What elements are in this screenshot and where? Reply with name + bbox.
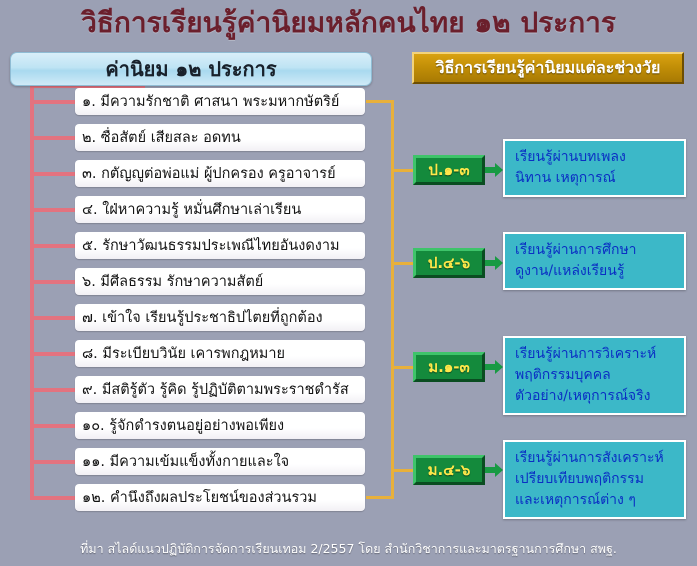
- methods-panel-header: วิธีการเรียนรู้ค่านิยมแต่ละช่วงวัย: [412, 52, 684, 84]
- source-footer: ที่มา สไลด์แนวปฏิบัติการจัดการเรียนเทอม …: [0, 539, 697, 559]
- red-connector-trunk: [30, 84, 34, 498]
- value-item-2: ๒. ซื่อสัตย์ เสียสละ อดทน: [75, 124, 365, 151]
- method-line: เรียนรู้ผ่านบทเพลง: [515, 147, 676, 168]
- red-branch-7: [30, 316, 76, 320]
- value-item-7: ๗. เข้าใจ เรียนรู้ประชาธิปไตยที่ถูกต้อง: [75, 304, 365, 331]
- arrow-right-icon-3: [485, 360, 503, 374]
- gold-branch-3: [391, 366, 413, 369]
- value-item-3: ๓. กตัญญูต่อพ่อแม่ ผู้ปกครอง ครูอาจารย์: [75, 160, 365, 187]
- method-box-1: เรียนรู้ผ่านบทเพลงนิทาน เหตุการณ์: [503, 139, 686, 197]
- grade-box-2[interactable]: ป.๔-๖: [413, 248, 485, 278]
- value-item-9: ๙. มีสติรู้ตัว รู้คิด รู้ปฏิบัติตามพระรา…: [75, 376, 365, 403]
- method-line: เรียนรู้ผ่านการศึกษา: [515, 240, 676, 261]
- red-branch-11: [30, 460, 76, 464]
- value-item-1: ๑. มีความรักชาติ ศาสนา พระมหากษัตริย์: [75, 88, 365, 115]
- red-branch-10: [30, 424, 76, 428]
- page-title: วิธีการเรียนรู้ค่านิยมหลักคนไทย ๑๒ ประกา…: [0, 6, 697, 40]
- arrow-right-icon-4: [485, 463, 503, 477]
- method-box-4: เรียนรู้ผ่านการสังเคราะห์เปรียบเทียบพฤติ…: [503, 440, 686, 519]
- value-item-11: ๑๑. มีความเข้มแข็งทั้งกายและใจ: [75, 448, 365, 475]
- red-branch-4: [30, 208, 76, 212]
- value-item-5: ๕. รักษาวัฒนธรรมประเพณีไทยอันงดงาม: [75, 232, 365, 259]
- method-line: เรียนรู้ผ่านการวิเคราะห์: [515, 344, 676, 365]
- diagram-canvas: วิธีการเรียนรู้ค่านิยมหลักคนไทย ๑๒ ประกา…: [0, 0, 697, 566]
- method-line: นิทาน เหตุการณ์: [515, 168, 676, 189]
- gold-stub-item-12: [366, 496, 394, 499]
- red-branch-3: [30, 172, 76, 176]
- value-item-4: ๔. ใฝ่หาความรู้ หมั่นศึกษาเล่าเรียน: [75, 196, 365, 223]
- red-branch-6: [30, 280, 76, 284]
- method-line: เรียนรู้ผ่านการสังเคราะห์: [515, 448, 676, 469]
- red-branch-1: [30, 100, 76, 104]
- method-line: ดูงาน/แหล่งเรียนรู้: [515, 261, 676, 282]
- value-item-10: ๑๐. รู้จักดำรงตนอยู่อย่างพอเพียง: [75, 412, 365, 439]
- red-branch-5: [30, 244, 76, 248]
- method-line: และเหตุการณ์ต่าง ๆ: [515, 490, 676, 511]
- method-line: พฤติกรรมบุคคล: [515, 365, 676, 386]
- method-line: ตัวอย่าง/เหตุการณ์จริง: [515, 386, 676, 407]
- arrow-right-icon-1: [485, 163, 503, 177]
- values-panel-header: ค่านิยม ๑๒ ประการ: [10, 52, 372, 86]
- value-item-6: ๖. มีศีลธรรม รักษาความสัตย์: [75, 268, 365, 295]
- gold-branch-4: [391, 469, 413, 472]
- gold-branch-1: [391, 169, 413, 172]
- grade-box-4[interactable]: ม.๔-๖: [413, 455, 485, 485]
- method-box-2: เรียนรู้ผ่านการศึกษาดูงาน/แหล่งเรียนรู้: [503, 232, 686, 290]
- gold-stub-item-1: [366, 100, 394, 103]
- red-branch-12: [30, 496, 76, 500]
- value-item-12: ๑๒. คำนึงถึงผลประโยชน์ของส่วนรวม: [75, 484, 365, 511]
- red-branch-2: [30, 136, 76, 140]
- grade-box-1[interactable]: ป.๑-๓: [413, 155, 485, 185]
- value-item-8: ๘. มีระเบียบวินัย เคารพกฎหมาย: [75, 340, 365, 367]
- gold-connector-trunk: [391, 100, 394, 498]
- red-branch-9: [30, 388, 76, 392]
- method-line: เปรียบเทียบพฤติกรรม: [515, 469, 676, 490]
- grade-box-3[interactable]: ม.๑-๓: [413, 352, 485, 382]
- arrow-right-icon-2: [485, 256, 503, 270]
- red-branch-8: [30, 352, 76, 356]
- gold-branch-2: [391, 262, 413, 265]
- method-box-3: เรียนรู้ผ่านการวิเคราะห์พฤติกรรมบุคคลตัว…: [503, 336, 686, 415]
